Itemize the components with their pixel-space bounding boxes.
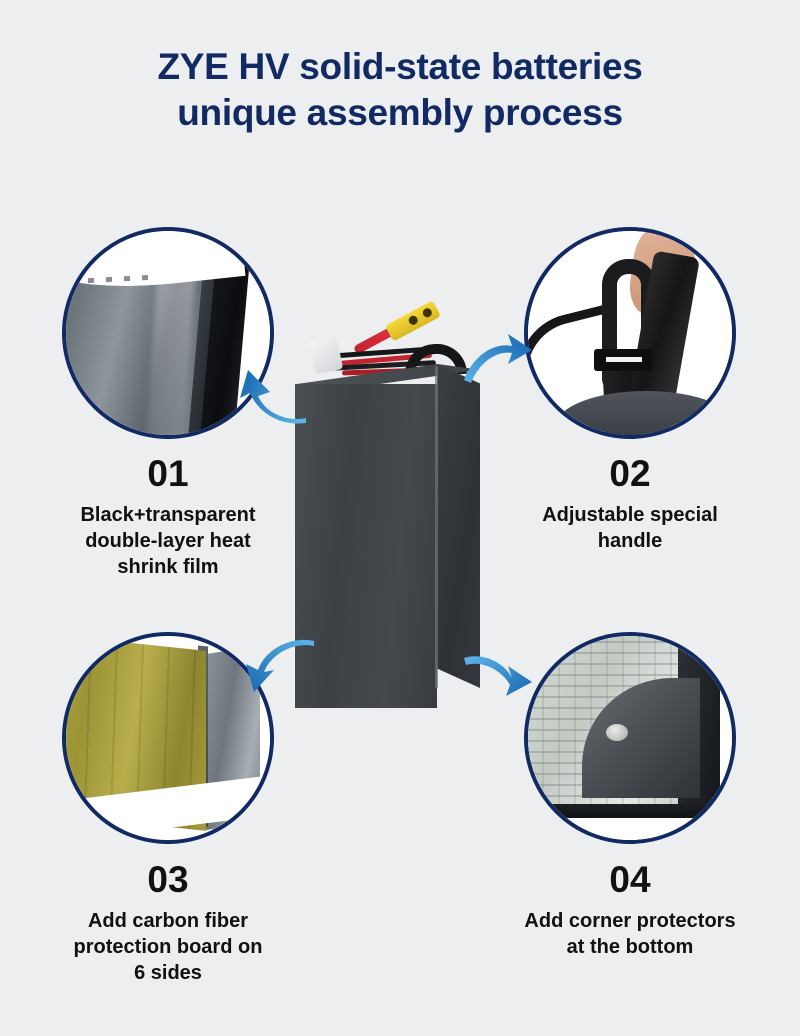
- callout-caption-4: 04 Add corner protectors at the bottom: [480, 858, 780, 960]
- callout-circle-4: [524, 632, 736, 844]
- strap-buckle: [594, 349, 652, 371]
- callout-caption-2: 02 Adjustable special handle: [480, 452, 780, 554]
- arrow-to-callout-4: [462, 648, 534, 706]
- callout-circle-2: [524, 227, 736, 439]
- arrow-to-callout-2: [462, 330, 534, 388]
- photo-bottom-mask: [524, 818, 736, 842]
- carbon-fiber-board-photo: [66, 636, 270, 840]
- callout-caption-1: 01 Black+transparent double-layer heat s…: [18, 452, 318, 580]
- battery-side-face: [437, 364, 480, 688]
- xt60-connector: [385, 300, 441, 341]
- callout-text: Add carbon fiber protection board on 6 s…: [18, 908, 318, 986]
- callout-caption-3: 03 Add carbon fiber protection board on …: [18, 858, 318, 986]
- handle-strap-photo: [528, 231, 732, 435]
- callout-text: Adjustable special handle: [480, 502, 780, 554]
- callout-circle-3: [62, 632, 274, 844]
- battery-vertical-edge: [435, 366, 438, 688]
- callout-number: 04: [480, 858, 780, 902]
- corner-protector-photo: [528, 636, 732, 840]
- title-line-1: ZYE HV solid-state batteries: [0, 44, 800, 90]
- page-title: ZYE HV solid-state batteries unique asse…: [0, 44, 800, 136]
- title-line-2: unique assembly process: [0, 90, 800, 136]
- callout-number: 03: [18, 858, 318, 902]
- arrow-to-callout-1: [236, 366, 308, 426]
- callout-number: 02: [480, 452, 780, 496]
- screw-icon: [606, 724, 628, 741]
- callout-number: 01: [18, 452, 318, 496]
- battery-top-surface: [556, 391, 736, 439]
- arrow-to-callout-3: [244, 638, 316, 696]
- callout-text: Add corner protectors at the bottom: [480, 908, 780, 960]
- callout-text: Black+transparent double-layer heat shri…: [18, 502, 318, 580]
- balance-connector: [309, 335, 343, 374]
